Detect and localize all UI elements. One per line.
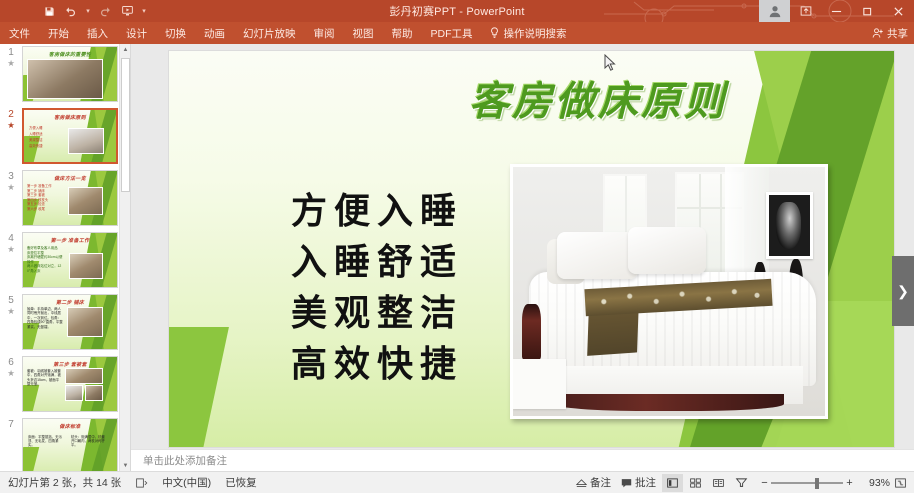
editor-body: 1 ★ 客房做床的重要性 2 ★ [0,44,914,471]
language-indicator[interactable]: 中文(中国) [162,475,211,490]
scrollbar-thumb[interactable] [121,58,130,192]
thumb-text-3: 第一步 准备工作 第二步 铺床 第三步 套被 第四步 放枕头 第五步 检查 第六… [27,184,65,212]
slide-body-line-1: 方便入睡 [291,186,506,237]
thumbnail-index-7: 7 [0,418,22,430]
zoom-slider-knob[interactable] [815,478,819,489]
undo-dropdown-caret[interactable]: ▾ [82,1,94,21]
thumb-text-2: 方便入睡 入睡舒适 美观整洁 高效快捷 [29,125,65,149]
tab-pdf-tools[interactable]: PDF工具 [422,22,482,44]
slide-body-line-2: 入睡舒适 [291,237,506,288]
scroll-down-arrow-icon[interactable]: ▼ [120,460,131,471]
reading-view-icon[interactable] [708,474,729,492]
accessibility-icon[interactable] [135,477,148,489]
quick-access-toolbar[interactable]: ▾ ▾ [38,0,150,22]
hotel-bed-photo[interactable] [510,164,828,419]
fit-to-window-icon[interactable] [892,475,908,491]
thumb-photo-6c [85,385,103,401]
thumbnail-preview-6[interactable]: 第三步 套被套 套被：羽绒被套入被套中，四角对齐饱满，被头折边15cm，被面平整… [22,356,118,412]
thumbnail-item-4[interactable]: 4 ★ 第一步 准备工作 备好布草及客人用品 床垫拉平整 床离开墙壁约30cm以… [0,230,120,292]
comment-icon [621,478,632,488]
share-button[interactable]: 共享 [872,22,908,44]
tab-file[interactable]: 文件 [0,22,39,44]
zoom-in-button[interactable]: + [843,477,856,489]
comments-button[interactable]: 批注 [617,474,660,492]
mouse-cursor [604,54,616,71]
thumbnail-item-7[interactable]: 7 做床标准 床面：平整挺括、无污渍、无毛发，四角紧实。 枕头：饱满居中，枕套开… [0,416,120,471]
slide-body-line-4: 高效快捷 [291,339,506,390]
thumb-photo-6b [65,385,83,401]
zoom-slider[interactable]: − + [758,477,856,489]
thumbnail-item-5[interactable]: 5 ★ 第二步 铺床 抛单：手持单边，两人同时甩开抛出，中线居中，一次到位。包角… [0,292,120,354]
thumbnail-preview-2[interactable]: 客房做床原则 方便入睡 入睡舒适 美观整洁 高效快捷 [22,108,118,164]
thumb-title-7: 做床标准 [23,423,117,430]
notes-icon [576,478,587,488]
status-bar: 幻灯片第 2 张，共 14 张 中文(中国) 已恢复 备注 批注 [0,471,914,493]
minimize-button[interactable] [821,0,852,22]
thumb-photo-2 [68,128,104,154]
tab-review[interactable]: 审阅 [305,22,344,44]
powerpoint-window: ▾ ▾ 彭丹初赛PPT - PowerPoint [0,0,914,493]
thumbnail-preview-3[interactable]: 做床方法一览 第一步 准备工作 第二步 铺床 第三步 套被 第四步 放枕头 第五… [22,170,118,226]
slide-thumbnail-list[interactable]: 1 ★ 客房做床的重要性 2 ★ [0,44,120,471]
thumb-photo-3 [68,187,103,215]
avatar[interactable] [759,0,790,22]
tab-help[interactable]: 帮助 [383,22,422,44]
thumbnail-item-3[interactable]: 3 ★ 做床方法一览 第一步 准备工作 第二步 铺床 第三步 套被 第四步 放枕… [0,168,120,230]
thumbnail-preview-7[interactable]: 做床标准 床面：平整挺括、无污渍、无毛发，四角紧实。 枕头：饱满居中，枕套开口朝… [22,418,118,471]
tab-view[interactable]: 视图 [344,22,383,44]
slide-body-text[interactable]: 方便入睡 入睡舒适 美观整洁 高效快捷 [291,186,506,390]
tab-transitions[interactable]: 切换 [156,22,195,44]
thumbnail-preview-4[interactable]: 第一步 准备工作 备好布草及客人用品 床垫拉平整 床离开墙壁约30cm以便操作 … [22,232,118,288]
thumbnail-index-1: 1 ★ [0,46,22,69]
slide-counter[interactable]: 幻灯片第 2 张，共 14 张 [8,475,121,490]
slide-body-line-3: 美观整洁 [291,288,506,339]
thumb-text-6: 套被：羽绒被套入被套中，四角对齐饱满，被头折边15cm，被面平整无皱。 [27,369,61,387]
thumb-photo-5 [67,307,103,337]
lightbulb-icon [490,27,500,39]
restore-button[interactable] [852,0,883,22]
share-label: 共享 [887,26,908,41]
thumb-title-1: 客房做床的重要性 [23,51,117,58]
thumbnail-index-3: 3 ★ [0,170,22,193]
chevron-right-icon[interactable]: ❯ [892,256,914,326]
close-button[interactable] [883,0,914,22]
share-person-icon [872,27,884,39]
tab-slideshow[interactable]: 幻灯片放映 [234,22,305,44]
thumbnail-index-6: 6 ★ [0,356,22,379]
thumbnail-index-5: 5 ★ [0,294,22,317]
save-icon[interactable] [38,1,60,21]
thumb-text-7b: 枕头：饱满居中，枕套开口朝内，两枕对称齐平。 [71,435,107,448]
wall-art-frame [766,192,813,259]
recovered-indicator[interactable]: 已恢复 [225,475,257,490]
tab-home[interactable]: 开始 [39,22,78,44]
zoom-slider-track[interactable] [771,477,843,489]
notes-pane[interactable]: 单击此处添加备注 [131,449,914,471]
start-from-beginning-icon[interactable] [116,1,138,21]
title-bar: ▾ ▾ 彭丹初赛PPT - PowerPoint [0,0,914,22]
thumb-title-4: 第一步 准备工作 [23,237,117,244]
thumbnail-pane-scrollbar[interactable]: ▲ ▼ [119,44,130,471]
slide-decoration-corner [169,327,229,447]
thumb-text-7a: 床面：平整挺括、无污渍、无毛发，四角紧实。 [28,435,64,448]
thumbnail-item-1[interactable]: 1 ★ 客房做床的重要性 [0,44,120,106]
ribbon-tabs[interactable]: 文件 开始 插入 设计 切换 动画 幻灯片放映 审阅 视图 帮助 PDF工具 操… [0,22,575,44]
thumb-title-3: 做床方法一览 [23,175,117,182]
thumb-text-5: 抛单：手持单边，两人同时甩开抛出，中线居中，一次到位。包角：四角包成90°直角，… [27,307,63,329]
zoom-out-button[interactable]: − [758,477,771,489]
normal-view-icon[interactable] [662,474,683,492]
thumbnail-item-2[interactable]: 2 ★ 客房做床原则 方便入睡 入睡舒适 美观整洁 高效快捷 [0,106,120,168]
tab-insert[interactable]: 插入 [78,22,117,44]
notes-placeholder: 单击此处添加备注 [131,453,227,468]
notes-button[interactable]: 备注 [572,474,615,492]
tell-me-search[interactable]: 操作说明搜索 [482,22,575,44]
slideshow-icon[interactable] [731,474,752,492]
thumbnail-item-6[interactable]: 6 ★ 第三步 套被套 套被：羽绒被套入被套中，四角对齐饱满，被头折边15cm，… [0,354,120,416]
thumbnail-preview-5[interactable]: 第二步 铺床 抛单：手持单边，两人同时甩开抛出，中线居中，一次到位。包角：四角包… [22,294,118,350]
thumb-title-2: 客房做床原则 [24,114,116,121]
thumb-title-6: 第三步 套被套 [23,361,117,368]
thumbnail-index-4: 4 ★ [0,232,22,255]
slide-sorter-icon[interactable] [685,474,706,492]
undo-icon[interactable] [60,1,82,21]
thumb-text-4: 备好布草及客人用品 床垫拉平整 床离开墙壁约30cm以便操作 两人做床站位对立，… [27,246,63,274]
tell-me-label: 操作说明搜索 [504,26,567,41]
ribbon-tab-bar: 文件 开始 插入 设计 切换 动画 幻灯片放映 审阅 视图 帮助 PDF工具 操… [0,22,914,44]
redo-icon[interactable] [94,1,116,21]
thumbnail-preview-1[interactable]: 客房做床的重要性 [22,46,118,102]
tab-design[interactable]: 设计 [117,22,156,44]
slide-thumbnail-pane[interactable]: 1 ★ 客房做床的重要性 2 ★ [0,44,131,471]
thumb-title-5: 第二步 铺床 [23,299,117,306]
window-controls[interactable] [759,0,914,22]
thumb-photo-4 [69,253,103,279]
customize-qat-caret[interactable]: ▾ [138,1,150,21]
ribbon-display-options-icon[interactable] [790,0,821,22]
current-slide[interactable]: 客房做床原则 方便入睡 入睡舒适 美观整洁 高效快捷 [169,51,894,447]
thumb-photo-1 [27,59,103,99]
tab-animations[interactable]: 动画 [195,22,234,44]
slide-title[interactable]: 客房做床原则 [469,79,869,125]
slide-editing-area[interactable]: 客房做床原则 方便入睡 入睡舒适 美观整洁 高效快捷 [131,44,914,449]
thumb-photo-6 [65,368,103,384]
thumbnail-index-2: 2 ★ [0,108,22,131]
zoom-level[interactable]: 93% [862,477,890,489]
scroll-up-arrow-icon[interactable]: ▲ [120,44,131,55]
